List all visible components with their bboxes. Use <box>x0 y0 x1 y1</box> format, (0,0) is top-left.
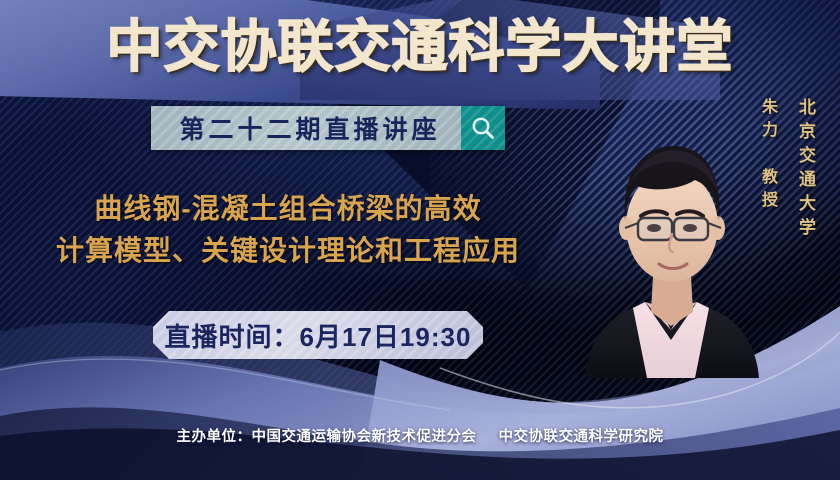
lecture-title: 曲线钢-混凝土组合桥梁的高效 计算模型、关键设计理论和工程应用 <box>8 188 568 272</box>
broadcast-time-badge: 直播时间：6月17日19:30 <box>153 311 483 359</box>
episode-label: 第二十二期直播讲座 <box>151 106 461 150</box>
organizer-name-2: 中交协联交通科学研究院 <box>499 429 664 445</box>
speaker-name: 朱力 <box>755 98 779 144</box>
page-title: 中交协联交通科学大讲堂 <box>0 16 840 80</box>
organizer-name-1: 中国交通运输协会新技术促进分会 <box>252 429 477 445</box>
speaker-portrait-photo <box>567 116 777 378</box>
speaker-title: 教授 <box>755 168 779 214</box>
lecture-title-line-1: 曲线钢-混凝土组合桥梁的高效 <box>94 193 481 224</box>
webinar-poster: 中交协联交通科学大讲堂 第二十二期直播讲座 曲线钢-混凝土组合桥梁的高效 计算模… <box>0 0 840 480</box>
search-icon[interactable] <box>461 106 505 150</box>
organizer-footer: 主办单位：中国交通运输协会新技术促进分会中交协联交通科学研究院 <box>0 425 840 446</box>
episode-banner: 第二十二期直播讲座 <box>151 106 505 150</box>
lecture-title-line-2: 计算模型、关键设计理论和工程应用 <box>8 230 568 272</box>
speaker-affiliation: 北京交通大学 <box>793 98 818 242</box>
organizer-prefix: 主办单位： <box>177 429 252 445</box>
